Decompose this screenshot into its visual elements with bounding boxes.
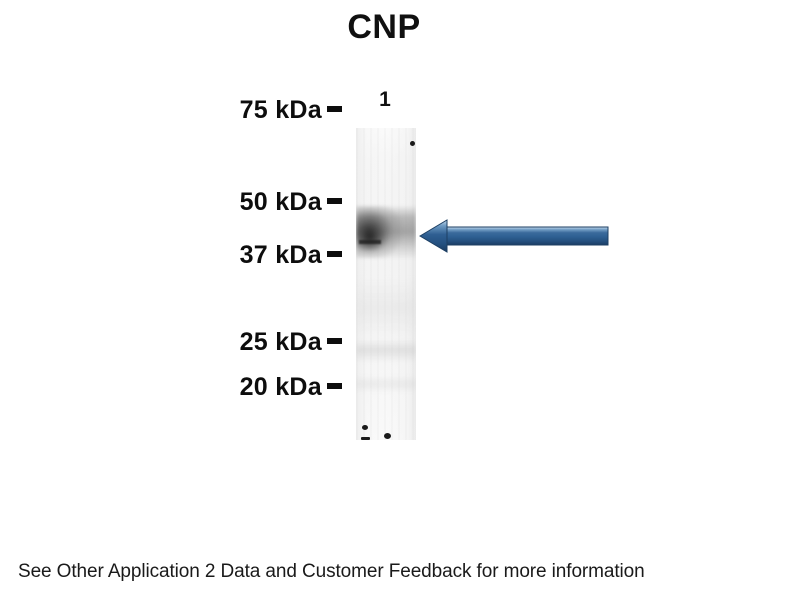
- arrow-left-icon: [418, 216, 610, 258]
- lane-number-label: 1: [356, 88, 414, 112]
- band-primary-streak: [359, 240, 381, 244]
- marker-dash-icon: [327, 106, 342, 112]
- marker-20kda: 20 kDa: [240, 372, 342, 402]
- artifact-speck: [362, 425, 368, 430]
- band-background-smear: [356, 278, 416, 338]
- artifact-speck: [384, 433, 391, 439]
- marker-label-37kda: 37 kDa: [240, 241, 322, 270]
- band-primary-core: [358, 224, 384, 250]
- molecular-weight-ladder: 75 kDa 50 kDa 37 kDa 25 kDa 20 kDa: [120, 90, 342, 420]
- marker-dash-icon: [327, 251, 342, 257]
- marker-label-50kda: 50 kDa: [240, 188, 322, 217]
- page-title: CNP: [0, 8, 784, 47]
- blot-lane-strip: [356, 128, 416, 440]
- artifact-speck: [410, 141, 415, 146]
- marker-50kda: 50 kDa: [240, 187, 342, 217]
- marker-37kda: 37 kDa: [240, 240, 342, 270]
- marker-dash-icon: [327, 383, 342, 389]
- marker-label-25kda: 25 kDa: [240, 328, 322, 357]
- band-faint-25kda: [356, 340, 416, 362]
- annotation-arrow: [418, 216, 610, 258]
- marker-75kda: 75 kDa: [240, 95, 342, 125]
- western-blot-figure: CNP 75 kDa 50 kDa 37 kDa 25 kDa 20 kDa 1: [0, 0, 800, 600]
- marker-dash-icon: [327, 338, 342, 344]
- marker-25kda: 25 kDa: [240, 327, 342, 357]
- figure-caption: See Other Application 2 Data and Custome…: [18, 561, 788, 583]
- band-faint-22kda: [356, 376, 416, 392]
- artifact-speck: [361, 437, 370, 440]
- marker-label-20kda: 20 kDa: [240, 373, 322, 402]
- marker-label-75kda: 75 kDa: [240, 96, 322, 125]
- marker-dash-icon: [327, 198, 342, 204]
